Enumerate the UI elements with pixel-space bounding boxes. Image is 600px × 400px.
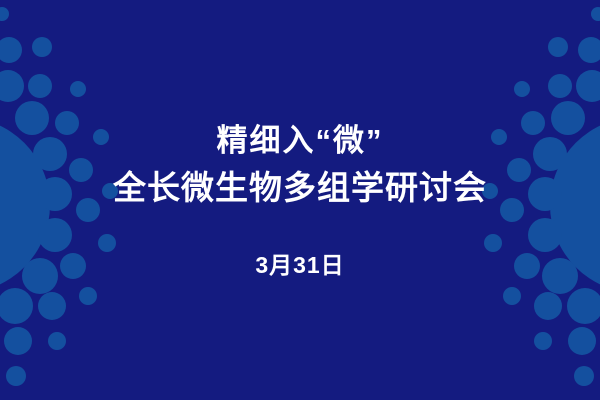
pattern-dot	[542, 258, 578, 294]
pattern-dot	[507, 158, 531, 182]
pattern-dot	[38, 292, 66, 320]
pattern-dot	[568, 327, 596, 355]
pattern-dot	[93, 129, 109, 145]
pattern-dot	[576, 70, 600, 102]
pattern-dot	[533, 137, 567, 171]
pattern-dot	[22, 258, 58, 294]
pattern-dot	[15, 101, 49, 135]
pattern-dot	[591, 7, 600, 21]
pattern-dot	[482, 183, 498, 199]
pattern-dot	[578, 37, 600, 63]
pattern-dot	[79, 287, 97, 305]
pattern-dot	[491, 129, 507, 145]
pattern-dot	[0, 37, 22, 63]
pattern-dot	[0, 70, 24, 102]
pattern-dot	[500, 198, 524, 222]
pattern-dot	[70, 81, 86, 97]
pattern-dot	[98, 234, 116, 252]
pattern-dot	[32, 37, 52, 57]
pattern-dot	[28, 74, 52, 98]
pattern-dot	[38, 177, 72, 211]
pattern-dot	[528, 218, 562, 252]
pattern-dot	[484, 234, 502, 252]
pattern-dot	[503, 287, 521, 305]
pattern-dot	[548, 37, 568, 57]
pattern-dot	[69, 158, 93, 182]
pattern-dot	[0, 7, 9, 21]
pattern-dot	[38, 218, 72, 252]
pattern-dot	[102, 183, 118, 199]
pattern-dot	[548, 74, 572, 98]
pattern-dot	[4, 327, 32, 355]
pattern-dot	[6, 366, 26, 386]
pattern-dot	[514, 253, 540, 279]
pattern-dot	[551, 101, 585, 135]
pattern-dot	[534, 332, 552, 350]
pattern-dot	[514, 81, 530, 97]
pattern-dot	[60, 253, 86, 279]
pattern-dot	[55, 111, 79, 135]
event-poster: 精细入“微” 全长微生物多组学研讨会 3月31日	[0, 0, 600, 400]
pattern-dot	[48, 332, 66, 350]
pattern-dot	[528, 177, 562, 211]
pattern-dot	[574, 366, 594, 386]
pattern-dot	[33, 137, 67, 171]
pattern-dot	[534, 292, 562, 320]
decorative-dot-pattern	[0, 0, 600, 400]
pattern-dot	[521, 111, 545, 135]
pattern-dot	[0, 288, 33, 324]
pattern-dot	[76, 198, 100, 222]
pattern-dot	[567, 288, 600, 324]
